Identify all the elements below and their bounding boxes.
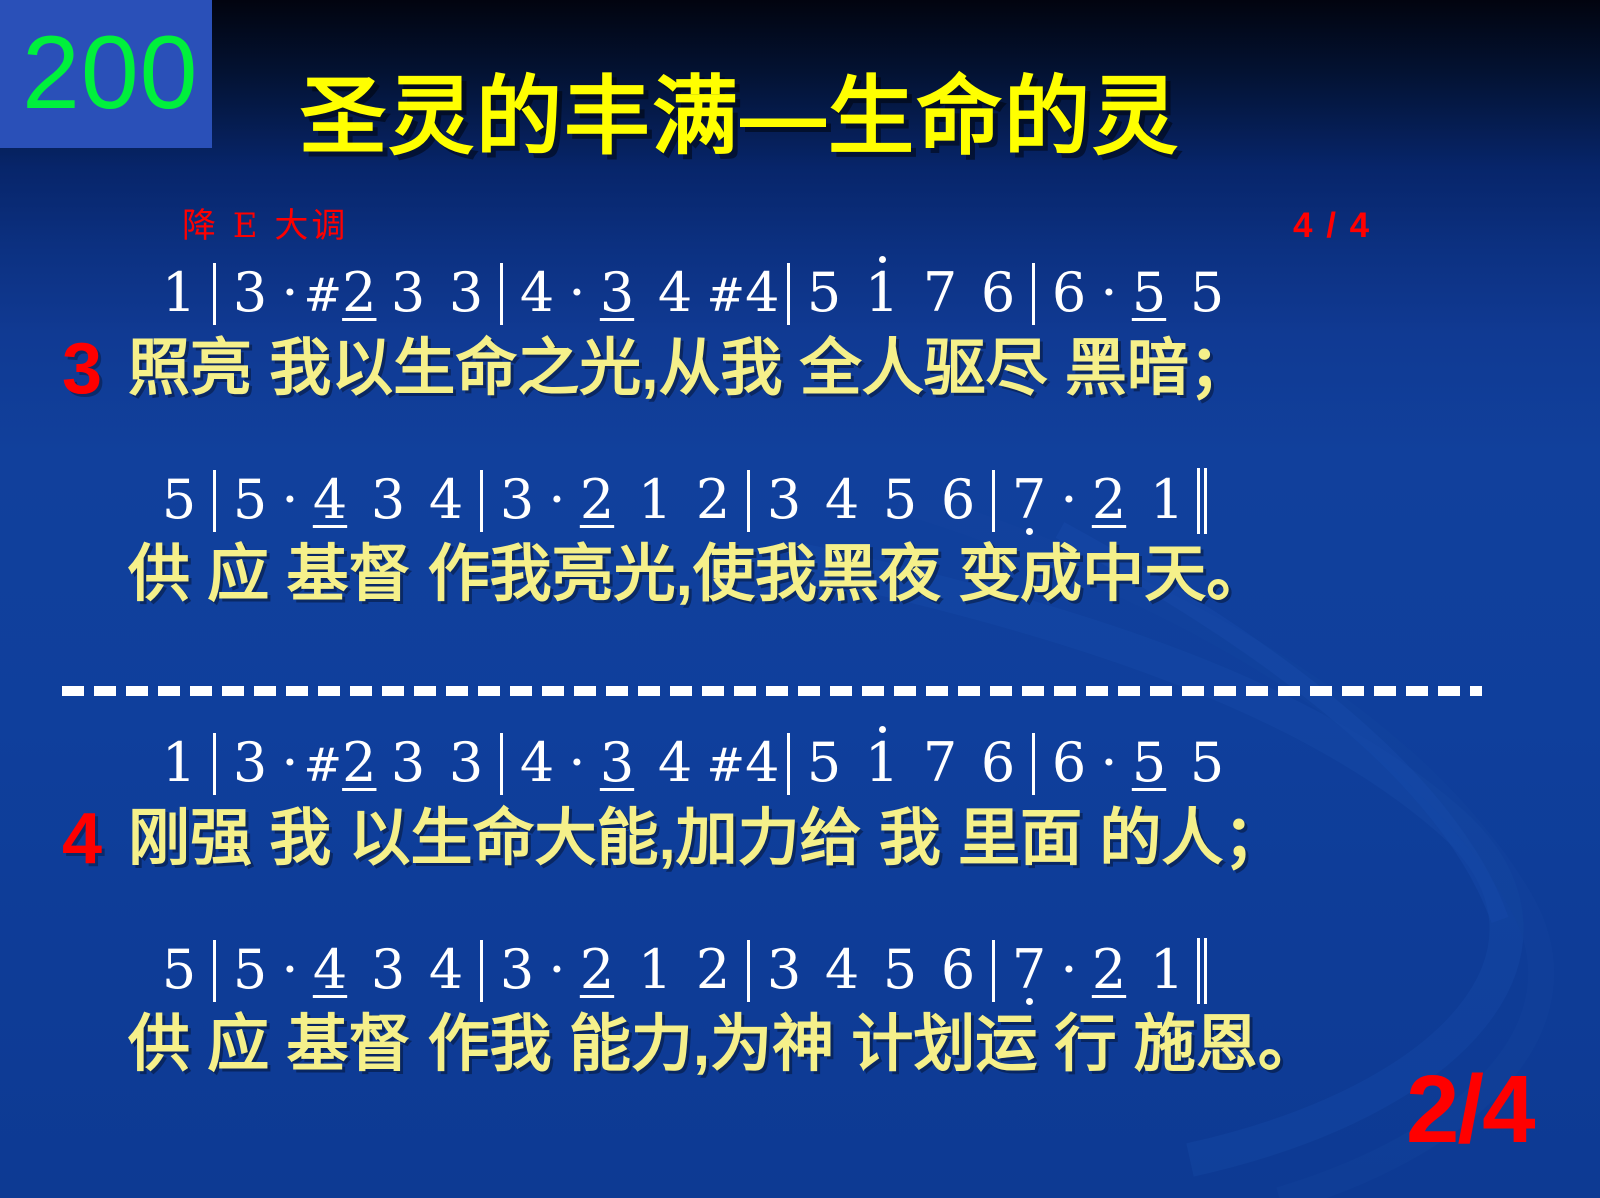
barline (787, 733, 790, 795)
note: 4 (813, 939, 871, 1001)
lyric-line: 供 应 基督 作我亮光,使我黑夜 变成中天。 (0, 538, 1600, 612)
note-degree: 3 (767, 468, 801, 531)
note: 2 (1080, 469, 1138, 531)
barline (480, 940, 483, 1002)
note: 4 (813, 469, 871, 531)
note-degree: 1 (162, 731, 196, 794)
note-degree: 6 (1052, 261, 1086, 324)
note-degree: 3 (233, 731, 267, 794)
verse-number: 3 (62, 332, 102, 406)
barline (213, 940, 216, 1002)
lyric-line: 3 照亮 我以生命之光,从我 全人驱尽 黑暗； (0, 332, 1600, 406)
note-degree: 3 (600, 261, 634, 324)
note: 1 (626, 939, 684, 1001)
note: 2 (568, 939, 626, 1001)
note: 6 (1040, 732, 1098, 794)
verse-number: 4 (62, 802, 102, 876)
note-degree: 3 (371, 938, 405, 1001)
page-indicator: 2/4 (1406, 1062, 1533, 1158)
note-degree: 5 (1190, 261, 1224, 324)
barline (1032, 263, 1035, 325)
note: #4 (704, 262, 782, 326)
note-degree: 5 (883, 468, 917, 531)
note-degree: 5 (1132, 731, 1166, 794)
note-degree: 7 (1012, 468, 1046, 531)
note: 1 (1138, 939, 1196, 1001)
note: 5 (1120, 262, 1178, 324)
note: 3 (588, 732, 646, 794)
sharp-accidental: # (707, 738, 746, 792)
barline (1032, 733, 1035, 795)
verse-4-system-1: 13·#2334·34#451766·55 4 刚强 我 以生命大能,加力给 我… (0, 732, 1600, 876)
augmentation-dot: · (1098, 262, 1120, 324)
note-degree: 2 (342, 731, 376, 794)
note-degree: 3 (500, 938, 534, 1001)
barline (787, 263, 790, 325)
notation-line: 55·4343·21234567·21 (0, 938, 1600, 1004)
augmentation-dot: · (279, 732, 301, 794)
note-degree: 4 (825, 468, 859, 531)
note-degree: 1 (865, 261, 899, 324)
note-degree: 1 (638, 468, 672, 531)
note: #2 (301, 262, 379, 326)
note: 4 (417, 469, 475, 531)
note-degree: 5 (1132, 261, 1166, 324)
lyric-text: 供 应 基督 作我 能力,为神 计划运 行 施恩。 (128, 1010, 1320, 1079)
note: 4 (646, 732, 704, 794)
hymn-number: 200 (22, 0, 199, 148)
barline (500, 263, 503, 325)
note: 5 (150, 469, 208, 531)
note-degree: 5 (883, 938, 917, 1001)
sharp-accidental: # (304, 738, 343, 792)
barline (747, 940, 750, 1002)
note-degree: 2 (342, 261, 376, 324)
note-degree: 3 (449, 261, 483, 324)
note: 3 (379, 732, 437, 794)
note-degree: 4 (429, 938, 463, 1001)
note-degree: 2 (696, 468, 730, 531)
note: 3 (755, 939, 813, 1001)
note: 5 (795, 732, 853, 794)
note-degree: 4 (313, 938, 347, 1001)
note: 3 (221, 262, 279, 324)
note: 3 (221, 732, 279, 794)
note: 3 (379, 262, 437, 324)
note-degree: 6 (1052, 731, 1086, 794)
lyric-line: 4 刚强 我 以生命大能,加力给 我 里面 的人； (0, 802, 1600, 876)
note: 6 (969, 262, 1027, 324)
note-degree: 3 (767, 938, 801, 1001)
note-degree: 7 (923, 731, 957, 794)
note: 4 (646, 262, 704, 324)
note: 2 (684, 939, 742, 1001)
note: 5 (1178, 262, 1236, 324)
note-degree: 1 (1150, 938, 1184, 1001)
barline (992, 470, 995, 532)
note-degree: 4 (313, 468, 347, 531)
note-degree: 4 (658, 261, 692, 324)
note-degree: 4 (745, 261, 779, 324)
augmentation-dot: · (279, 939, 301, 1001)
barline (480, 470, 483, 532)
note-degree: 2 (1092, 938, 1126, 1001)
note: 1 (150, 732, 208, 794)
note: 5 (221, 469, 279, 531)
hymn-number-badge: 200 (0, 0, 212, 148)
note: 3 (437, 732, 495, 794)
note-degree: 1 (1150, 468, 1184, 531)
note-degree: 3 (371, 468, 405, 531)
note: 2 (684, 469, 742, 531)
augmentation-dot: · (566, 262, 588, 324)
augmentation-dot: · (1058, 469, 1080, 531)
note: #4 (704, 732, 782, 796)
note-degree: 4 (429, 468, 463, 531)
note: 4 (508, 262, 566, 324)
augmentation-dot: · (566, 732, 588, 794)
note-degree: 7 (1012, 938, 1046, 1001)
note: 6 (1040, 262, 1098, 324)
note-degree: 1 (865, 731, 899, 794)
note-degree: 1 (162, 261, 196, 324)
note: 5 (1120, 732, 1178, 794)
verse-4-system-2: 55·4343·21234567·21 供 应 基督 作我 能力,为神 计划运 … (0, 938, 1600, 1082)
note: 1 (853, 262, 911, 324)
note: 5 (1178, 732, 1236, 794)
note-degree: 3 (233, 261, 267, 324)
barline (992, 940, 995, 1002)
verse-3-system-1: 13·#2334·34#451766·55 3 照亮 我以生命之光,从我 全人驱… (0, 262, 1600, 406)
note: 3 (359, 469, 417, 531)
notation-line: 13·#2334·34#451766·55 (0, 262, 1600, 328)
note-degree: 4 (520, 731, 554, 794)
note-degree: 7 (923, 261, 957, 324)
note-degree: 5 (1190, 731, 1224, 794)
key-signature: 降 E 大调 (182, 198, 348, 247)
note: 3 (359, 939, 417, 1001)
note: 4 (508, 732, 566, 794)
note: 7 (911, 262, 969, 324)
note-degree: 2 (580, 938, 614, 1001)
augmentation-dot: · (279, 262, 301, 324)
lyric-text: 刚强 我 以生命大能,加力给 我 里面 的人； (128, 804, 1285, 873)
lyric-text: 照亮 我以生命之光,从我 全人驱尽 黑暗； (128, 334, 1251, 403)
note-degree: 1 (638, 938, 672, 1001)
note: 4 (301, 939, 359, 1001)
note: 3 (488, 939, 546, 1001)
note-degree: 2 (580, 468, 614, 531)
note-degree: 6 (941, 938, 975, 1001)
note: 7 (911, 732, 969, 794)
note-degree: 5 (233, 938, 267, 1001)
note-degree: 4 (745, 731, 779, 794)
augmentation-dot: · (1058, 939, 1080, 1001)
barline (213, 470, 216, 532)
note-degree: 5 (233, 468, 267, 531)
note: 6 (969, 732, 1027, 794)
augmentation-dot: · (1098, 732, 1120, 794)
augmentation-dot: · (546, 469, 568, 531)
note-degree: 2 (696, 938, 730, 1001)
note-degree: 4 (520, 261, 554, 324)
note-degree: 6 (981, 731, 1015, 794)
note: 1 (626, 469, 684, 531)
note: 7 (1000, 939, 1058, 1001)
barline (747, 470, 750, 532)
note: 3 (588, 262, 646, 324)
notation-line: 13·#2334·34#451766·55 (0, 732, 1600, 798)
note: 2 (1080, 939, 1138, 1001)
barline (213, 263, 216, 325)
note: 2 (568, 469, 626, 531)
note: 1 (1138, 469, 1196, 531)
note-degree: 4 (825, 938, 859, 1001)
note-degree: 3 (391, 261, 425, 324)
lyric-text: 供 应 基督 作我亮光,使我黑夜 变成中天。 (128, 540, 1268, 609)
verse-3-system-2: 55·4343·21234567·21 供 应 基督 作我亮光,使我黑夜 变成中… (0, 468, 1600, 612)
note-degree: 3 (600, 731, 634, 794)
note-degree: 5 (162, 938, 196, 1001)
note: 3 (437, 262, 495, 324)
note-degree: 6 (941, 468, 975, 531)
barline (213, 733, 216, 795)
note: 4 (301, 469, 359, 531)
note-degree: 3 (391, 731, 425, 794)
note: 3 (755, 469, 813, 531)
note-degree: 3 (500, 468, 534, 531)
page-title: 圣灵的丰满—生命的灵 (300, 74, 1180, 160)
note: 1 (853, 732, 911, 794)
note-degree: 4 (658, 731, 692, 794)
double-barline (1196, 938, 1210, 1004)
barline (500, 733, 503, 795)
note: 1 (150, 262, 208, 324)
note: 3 (488, 469, 546, 531)
sharp-accidental: # (707, 268, 746, 322)
augmentation-dot: · (279, 469, 301, 531)
lyric-line: 供 应 基督 作我 能力,为神 计划运 行 施恩。 (0, 1008, 1600, 1082)
note: 5 (221, 939, 279, 1001)
notation-line: 55·4343·21234567·21 (0, 468, 1600, 534)
note-degree: 5 (807, 731, 841, 794)
note: 4 (417, 939, 475, 1001)
note: 5 (871, 939, 929, 1001)
note-degree: 6 (981, 261, 1015, 324)
note-degree: 3 (449, 731, 483, 794)
note-degree: 2 (1092, 468, 1126, 531)
hymn-slide: 200 圣灵的丰满—生命的灵 降 E 大调 4 / 4 13·#2334·34#… (0, 0, 1600, 1198)
note: 5 (871, 469, 929, 531)
section-divider (62, 686, 1482, 696)
note-degree: 5 (162, 468, 196, 531)
note: 5 (150, 939, 208, 1001)
note: 6 (929, 939, 987, 1001)
note: 6 (929, 469, 987, 531)
sharp-accidental: # (304, 268, 343, 322)
note-degree: 5 (807, 261, 841, 324)
time-signature: 4 / 4 (1293, 206, 1371, 246)
note: 5 (795, 262, 853, 324)
note: #2 (301, 732, 379, 796)
double-barline (1196, 468, 1210, 534)
note: 7 (1000, 469, 1058, 531)
augmentation-dot: · (546, 939, 568, 1001)
